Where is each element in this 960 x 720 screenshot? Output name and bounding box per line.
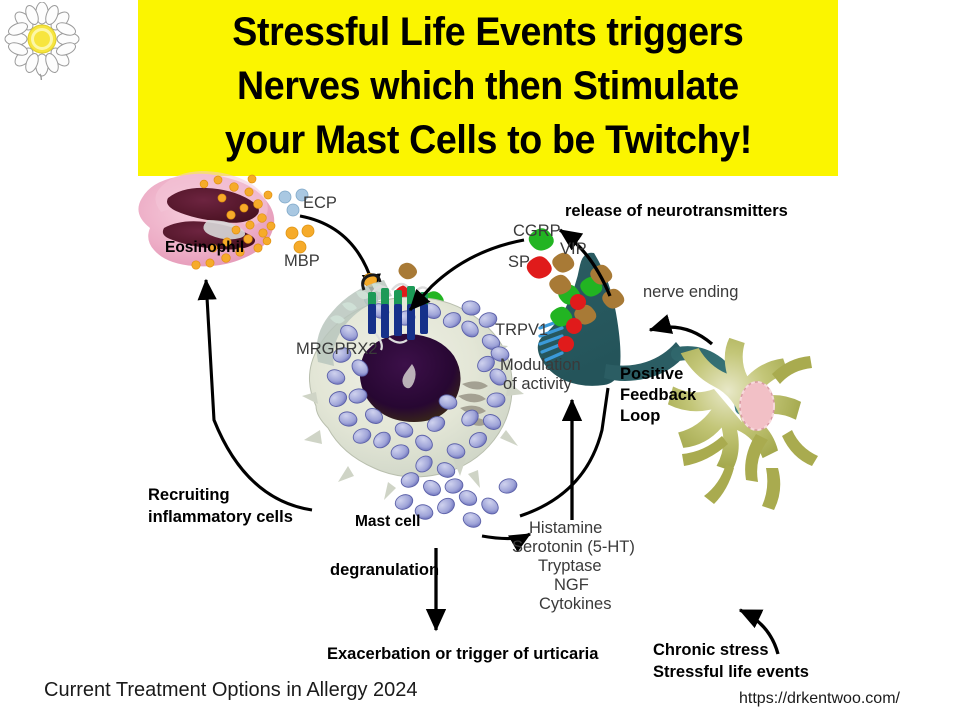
cgrp-label: CGRP [513,222,561,241]
arrow-soma-to-nerve-ending [650,327,712,344]
recruiting-label-line2: inflammatory cells [148,508,293,527]
ecp-label: ECP [303,194,337,213]
chronic-stress-label-line2: Stressful life events [653,663,809,682]
mediator-item-4: Cytokines [539,595,662,614]
mediator-item-3: NGF [554,576,677,595]
arc-positive-feedback-loop [520,388,608,516]
title-banner: Stressful Life Events triggers Nerves wh… [138,0,838,176]
neuron-soma [668,338,818,510]
feedback-label-line3: Loop [620,407,660,426]
mediator-item-1: Serotonin (5-HT) [512,538,635,557]
vip-label: VIP [560,240,587,259]
mbp-label: MBP [284,252,320,271]
release-neurotransmitters-label: release of neurotransmitters [565,202,788,221]
slide-canvas: Stressful Life Events triggers Nerves wh… [0,0,960,720]
feedback-label-line1: Positive [620,365,683,384]
mediator-item-0: Histamine [529,519,652,538]
modulation-label-line1: Modulation [500,356,581,375]
citation-text: Current Treatment Options in Allergy 202… [44,679,418,702]
mediator-item-2: Tryptase [538,557,661,576]
feedback-label-line2: Feedback [620,386,696,405]
site-url-text[interactable]: https://drkentwoo.com/ [739,690,900,708]
mast-cell-label: Mast cell [355,513,420,530]
eosinophil-cell: Eosinophil [138,171,275,269]
mediator-list: Histamine Serotonin (5-HT) Tryptase NGF … [512,519,635,614]
mrgprx2-label: MRGPRX2 [296,340,378,359]
mast-cell-nerve-diagram: Eosinophil [0,168,960,680]
recruiting-label-line1: Recruiting [148,486,230,505]
degranulation-label: degranulation [330,561,439,580]
eosinophil-label: Eosinophil [165,239,244,256]
nerve-ending-label: nerve ending [643,283,738,302]
title-line-1: Stressful Life Events triggers [232,5,743,59]
trpv1-label: TRPV1 [495,321,548,340]
daisy-flower-icon [4,2,80,80]
sp-label: SP [508,253,530,272]
title-line-3: your Mast Cells to be Twitchy! [224,113,751,167]
arrow-recruiting-inflammatory-cells [206,280,312,510]
title-line-2: Nerves which then Stimulate [237,59,739,113]
urticaria-label: Exacerbation or trigger of urticaria [327,645,598,664]
chronic-stress-label-line1: Chronic stress [653,641,769,660]
modulation-label-line2: of activity [503,375,572,394]
mbp-granules [286,225,314,253]
